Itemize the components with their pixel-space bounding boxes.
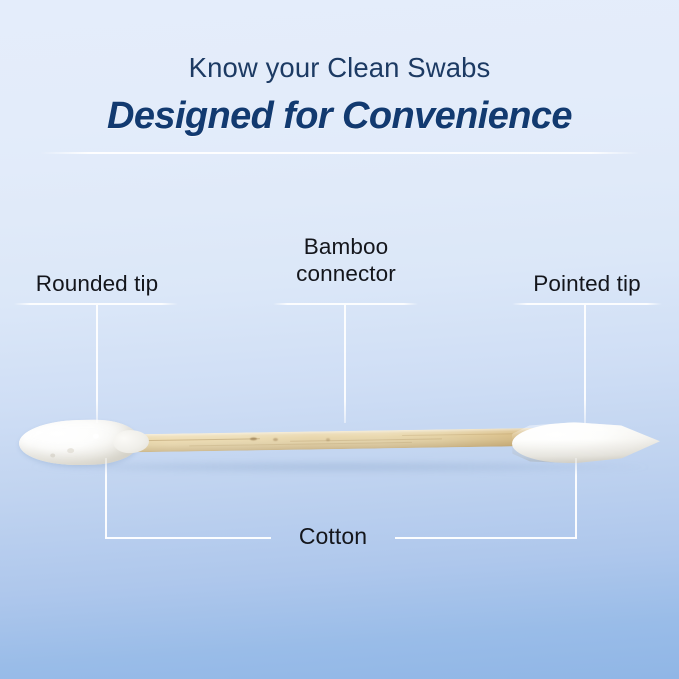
product-shadow	[30, 461, 650, 473]
callout-label-bamboo-connector: Bamboo connector	[253, 233, 439, 288]
rounded-cotton-tip	[19, 419, 140, 466]
callout-bracket-left-arm-cotton	[105, 458, 107, 538]
product-image-cotton-swab	[0, 395, 679, 495]
callout-label-cotton: Cotton	[269, 523, 397, 550]
callout-label-rounded-tip: Rounded tip	[4, 270, 190, 297]
eyebrow-text: Know your Clean Swabs	[0, 52, 679, 84]
callout-label-pointed-tip: Pointed tip	[494, 270, 679, 297]
header-divider	[40, 152, 639, 154]
header: Know your Clean Swabs Designed for Conve…	[0, 0, 679, 170]
callout-leader-line-bamboo-connector	[344, 305, 346, 423]
callout-leader-line-pointed-tip	[584, 305, 586, 423]
callout-underline-pointed-tip	[512, 303, 662, 305]
callout-leader-line-rounded-tip	[96, 305, 98, 423]
callout-bracket-right-arm-cotton	[575, 458, 577, 538]
callout-bracket-bar-left-cotton	[105, 537, 271, 539]
callout-bracket-bar-right-cotton	[395, 537, 577, 539]
pointed-cotton-tip-shading	[512, 421, 661, 465]
page-title: Designed for Convenience	[0, 95, 679, 138]
